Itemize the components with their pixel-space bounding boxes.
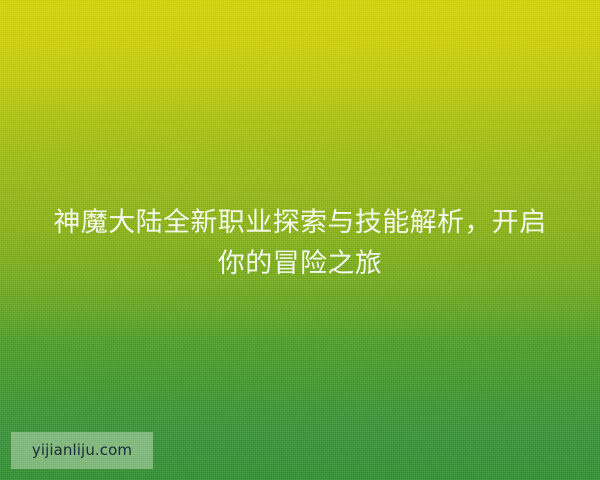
watermark-site-label: yijianliju.com — [32, 443, 132, 458]
headline-title: 神魔大陆全新职业探索与技能解析，开启 你的冒险之旅 — [0, 202, 600, 284]
watermark-badge: yijianliju.com — [11, 432, 153, 469]
promo-banner: 神魔大陆全新职业探索与技能解析，开启 你的冒险之旅 yijianliju.com — [0, 0, 600, 480]
